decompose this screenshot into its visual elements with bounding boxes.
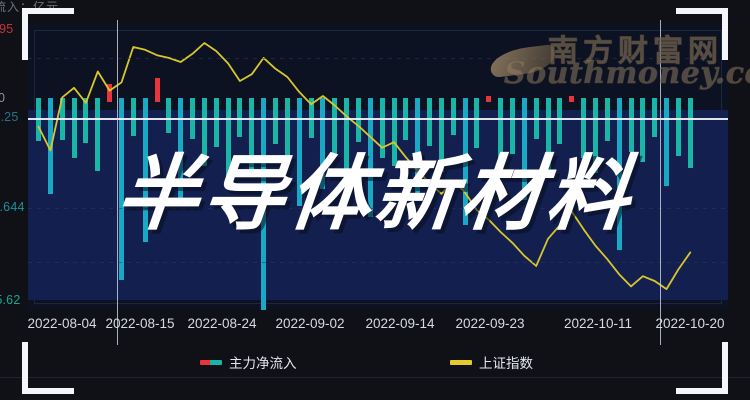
corner-bracket-top-right	[676, 8, 728, 60]
corner-bracket-bottom-left	[22, 342, 74, 394]
legend-label-0: 主力净流入	[229, 352, 297, 372]
zero-axis-line	[28, 118, 728, 120]
x-tick-label-7: 2022-10-20	[655, 316, 724, 331]
x-tick-label-6: 2022-10-11	[564, 316, 632, 331]
x-tick-label-4: 2022-09-14	[365, 316, 434, 331]
gridline-0	[28, 58, 728, 59]
overlay-title: 半导体新材料	[0, 152, 750, 238]
y-label-neg562: -5.62	[0, 293, 21, 307]
x-tick-label-0: 2022-08-04	[27, 316, 96, 331]
gridline-2	[28, 262, 728, 263]
x-tick-label-2: 2022-08-24	[187, 316, 256, 331]
legend-label-1: 上证指数	[479, 352, 533, 372]
legend-item-0[interactable]: 主力净流入	[200, 352, 297, 372]
legend-marker-icon-1	[450, 360, 472, 365]
legend-marker-icon-0	[200, 360, 222, 365]
bottom-divider	[0, 377, 750, 378]
x-tick-label-5: 2022-09-23	[455, 316, 524, 331]
y-label-395: 395	[0, 22, 13, 36]
x-axis-labels: 2022-08-042022-08-152022-08-242022-09-02…	[0, 316, 750, 338]
y-label-neg125: -1.25	[0, 110, 19, 124]
corner-bracket-bottom-right	[676, 342, 728, 394]
y-label-0: 0	[0, 91, 5, 105]
corner-bracket-top-left	[22, 8, 74, 60]
legend-item-1[interactable]: 上证指数	[450, 352, 533, 372]
x-tick-label-3: 2022-09-02	[275, 316, 344, 331]
chart-screenshot: 流入：亿元 3950-1.25-2.644-5.62 2022-08-04202…	[0, 0, 750, 400]
chart-legend: 主力净流入上证指数	[0, 352, 750, 376]
x-tick-label-1: 2022-08-15	[105, 316, 174, 331]
